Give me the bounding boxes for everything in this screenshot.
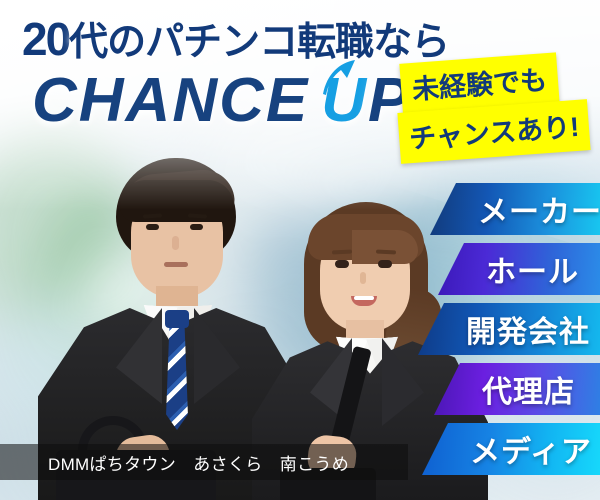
- category-list: メーカー ホール 開発会社 代理店 メディア: [0, 0, 600, 500]
- caption-strip: DMMぱちタウン あさくら 南こうめ: [0, 444, 408, 480]
- category-label: ホール: [486, 247, 579, 291]
- category-bar-development-company[interactable]: 開発会社: [418, 303, 600, 355]
- caption-text: DMMぱちタウン あさくら 南こうめ: [48, 450, 349, 475]
- category-bar-agency[interactable]: 代理店: [434, 363, 600, 415]
- category-label: 開発会社: [466, 307, 590, 351]
- category-label: メーカー: [478, 187, 600, 231]
- category-bar-maker[interactable]: メーカー: [430, 183, 600, 235]
- category-label: メディア: [470, 427, 592, 471]
- category-bar-hall[interactable]: ホール: [438, 243, 600, 295]
- recruitment-banner: 20代のパチンコ転職なら CHANCEUP 未経験でも チャンスあり! メーカー…: [0, 0, 600, 500]
- category-label: 代理店: [482, 367, 575, 411]
- category-bar-media[interactable]: メディア: [422, 423, 600, 475]
